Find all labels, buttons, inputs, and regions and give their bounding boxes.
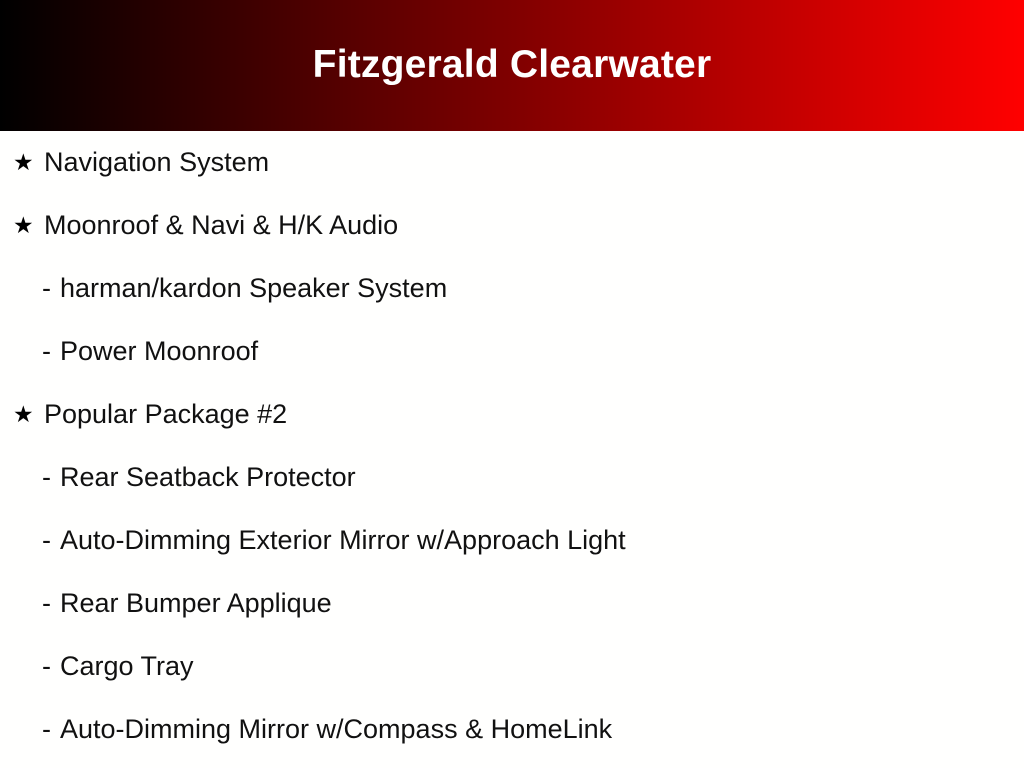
list-item-label: Moonroof & Navi & H/K Audio [44,212,398,239]
dash-bullet-icon: - [42,653,60,680]
slide-header-banner: Fitzgerald Clearwater [0,0,1024,131]
list-item-label: Auto-Dimming Mirror w/Compass & HomeLink [60,716,612,743]
star-bullet-icon: ★ [13,214,44,237]
star-bullet-icon: ★ [13,151,44,174]
sub-list-item: -Power Moonroof [0,320,1024,383]
sub-list-item: -Rear Bumper Applique [0,572,1024,635]
sub-list-item: -Rear Seatback Protector [0,446,1024,509]
dash-bullet-icon: - [42,275,60,302]
list-item: ★Popular Package #2 [0,383,1024,446]
page-title: Fitzgerald Clearwater [313,45,712,86]
dash-bullet-icon: - [42,590,60,617]
list-item-label: harman/kardon Speaker System [60,275,447,302]
dash-bullet-icon: - [42,527,60,554]
list-item-label: Popular Package #2 [44,401,287,428]
sub-list-item: -Cargo Tray [0,635,1024,698]
sub-list-item: -Auto-Dimming Exterior Mirror w/Approach… [0,509,1024,572]
sub-list-item: -harman/kardon Speaker System [0,257,1024,320]
list-item-label: Navigation System [44,149,269,176]
star-bullet-icon: ★ [13,403,44,426]
dash-bullet-icon: - [42,464,60,491]
slide-content-list: ★Navigation System★Moonroof & Navi & H/K… [0,131,1024,768]
list-item-label: Auto-Dimming Exterior Mirror w/Approach … [60,527,626,554]
dash-bullet-icon: - [42,338,60,365]
list-item-label: Rear Bumper Applique [60,590,332,617]
list-item: ★Moonroof & Navi & H/K Audio [0,194,1024,257]
list-item-label: Rear Seatback Protector [60,464,356,491]
list-item-label: Cargo Tray [60,653,194,680]
list-item-label: Power Moonroof [60,338,258,365]
list-item: ★Navigation System [0,131,1024,194]
dash-bullet-icon: - [42,716,60,743]
sub-list-item: -Auto-Dimming Mirror w/Compass & HomeLin… [0,698,1024,761]
